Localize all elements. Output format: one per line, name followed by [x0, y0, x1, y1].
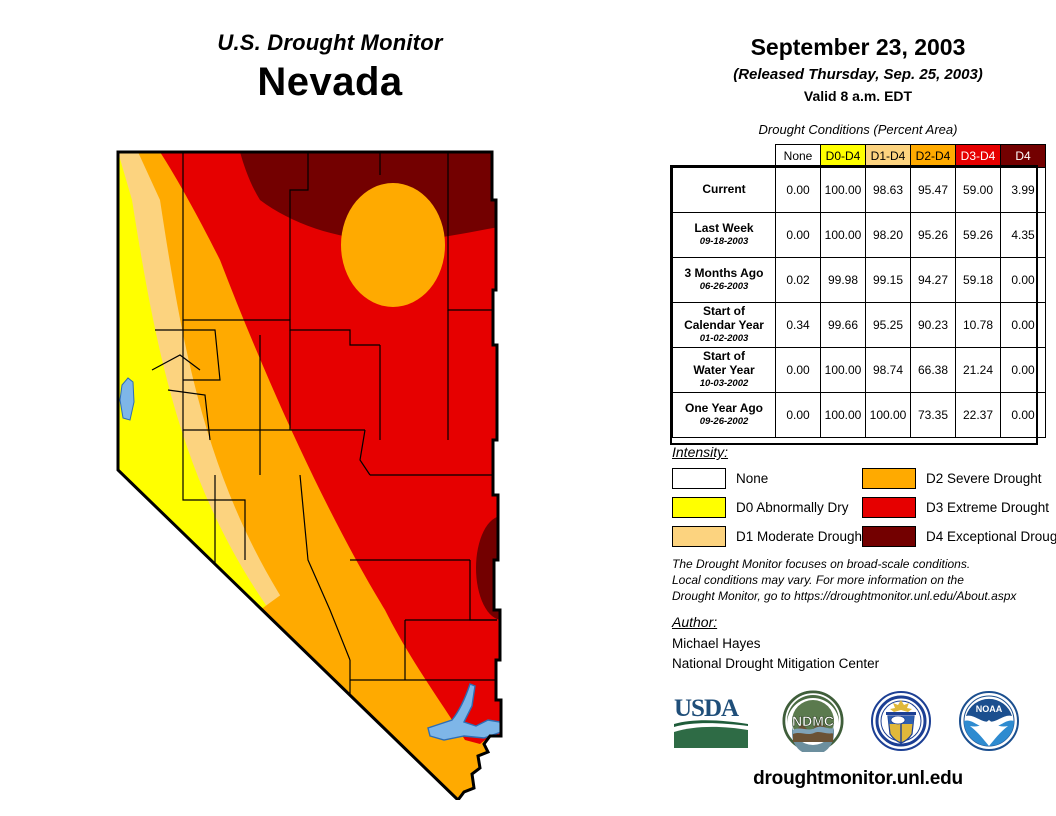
table-header-none: None [776, 145, 821, 168]
table-header-blank [673, 145, 776, 168]
table-row: Start ofWater Year 10-03-2002 0.00 100.0… [673, 348, 1046, 393]
legend-swatch-d0 [672, 497, 726, 518]
lake-tahoe-shape [120, 378, 134, 420]
logo-row: USDA NDMC [672, 690, 1052, 760]
cell-d4: 4.35 [1001, 213, 1046, 258]
row-label-last-week: Last Week 09-18-2003 [673, 213, 776, 258]
svg-text:USDA: USDA [674, 695, 739, 722]
cell-d1d4: 99.15 [866, 258, 911, 303]
cell-none: 0.00 [776, 393, 821, 438]
row-label-date: 10-03-2002 [677, 379, 771, 390]
legend-column-left: None D0 Abnormally Dry D1 Moderate Droug… [672, 466, 866, 553]
table-row: Last Week 09-18-2003 0.00 100.00 98.20 9… [673, 213, 1046, 258]
row-label-date: 06-26-2003 [677, 282, 771, 293]
cell-none: 0.02 [776, 258, 821, 303]
legend-item-d2: D2 Severe Drought [862, 466, 1056, 491]
disclaimer-line-3: Drought Monitor, go to https://droughtmo… [672, 588, 1052, 604]
cell-d2d4: 95.47 [911, 168, 956, 213]
legend-swatch-d1 [672, 526, 726, 547]
row-label-text: 3 Months Ago [685, 266, 764, 280]
cell-d0d4: 99.98 [821, 258, 866, 303]
cell-d3d4: 10.78 [956, 303, 1001, 348]
row-label-date: 09-26-2002 [677, 417, 771, 428]
cell-d3d4: 59.00 [956, 168, 1001, 213]
legend-column-right: D2 Severe Drought D3 Extreme Drought D4 … [862, 466, 1056, 553]
map-title-state: Nevada [0, 60, 660, 105]
cell-d3d4: 59.26 [956, 213, 1001, 258]
cell-d4: 0.00 [1001, 303, 1046, 348]
author-org: National Drought Mitigation Center [672, 656, 879, 671]
legend-item-none: None [672, 466, 866, 491]
cell-d4: 3.99 [1001, 168, 1046, 213]
row-label-one-year-ago: One Year Ago 09-26-2002 [673, 393, 776, 438]
cell-d4: 0.00 [1001, 393, 1046, 438]
table-caption: Drought Conditions (Percent Area) [660, 122, 1056, 137]
row-label-start-of-water-year: Start ofWater Year 10-03-2002 [673, 348, 776, 393]
disclaimer-line-1: The Drought Monitor focuses on broad-sca… [672, 556, 1052, 572]
table-row: Start ofCalendar Year 01-02-2003 0.34 99… [673, 303, 1046, 348]
legend-item-d0: D0 Abnormally Dry [672, 495, 866, 520]
cell-none: 0.00 [776, 213, 821, 258]
row-label-3-months-ago: 3 Months Ago 06-26-2003 [673, 258, 776, 303]
author-heading: Author: [672, 614, 717, 630]
cell-none: 0.00 [776, 168, 821, 213]
website-url: droughtmonitor.unl.edu [660, 768, 1056, 790]
cell-d1d4: 95.25 [866, 303, 911, 348]
cell-d2d4: 73.35 [911, 393, 956, 438]
usdc-seal-logo [868, 690, 934, 757]
legend-swatch-d2 [862, 468, 916, 489]
cell-d4: 0.00 [1001, 258, 1046, 303]
author-name: Michael Hayes [672, 636, 761, 651]
report-released: (Released Thursday, Sep. 25, 2003) [660, 66, 1056, 83]
table-row: Current 0.00 100.00 98.63 95.47 59.00 3.… [673, 168, 1046, 213]
region-d4-southeast [476, 516, 528, 620]
row-label-date: 09-18-2003 [677, 237, 771, 248]
report-valid-time: Valid 8 a.m. EDT [660, 88, 1056, 104]
cell-d1d4: 100.00 [866, 393, 911, 438]
cell-d3d4: 22.37 [956, 393, 1001, 438]
cell-d0d4: 99.66 [821, 303, 866, 348]
cell-d1d4: 98.63 [866, 168, 911, 213]
cell-d4: 0.00 [1001, 348, 1046, 393]
map-title-program: U.S. Drought Monitor [0, 30, 660, 56]
svg-text:NDMC: NDMC [792, 713, 834, 729]
disclaimer: The Drought Monitor focuses on broad-sca… [672, 556, 1052, 604]
table-row: 3 Months Ago 06-26-2003 0.02 99.98 99.15… [673, 258, 1046, 303]
legend-label-d1: D1 Moderate Drought [736, 529, 866, 544]
nevada-drought-map [60, 140, 620, 800]
cell-d0d4: 100.00 [821, 348, 866, 393]
cell-none: 0.00 [776, 348, 821, 393]
cell-d1d4: 98.74 [866, 348, 911, 393]
region-d2-northeast-blob [341, 183, 445, 307]
row-label-text: Last Week [694, 221, 753, 235]
drought-conditions-table: None D0-D4 D1-D4 D2-D4 D3-D4 D4 Current … [672, 144, 1046, 438]
legend-swatch-none [672, 468, 726, 489]
row-label-current: Current [673, 168, 776, 213]
ndmc-logo: NDMC [780, 690, 846, 757]
legend-item-d3: D3 Extreme Drought [862, 495, 1056, 520]
table-header-d0-d4: D0-D4 [821, 145, 866, 168]
drought-monitor-page: U.S. Drought Monitor Nevada [0, 0, 1056, 816]
row-label-start-of-calendar-year: Start ofCalendar Year 01-02-2003 [673, 303, 776, 348]
row-label-text: Start ofWater Year [693, 349, 754, 377]
disclaimer-line-2: Local conditions may vary. For more info… [672, 572, 1052, 588]
legend-item-d4: D4 Exceptional Drought [862, 524, 1056, 549]
cell-d2d4: 94.27 [911, 258, 956, 303]
noaa-logo: NOAA [956, 690, 1022, 757]
legend-swatch-d4 [862, 526, 916, 547]
table-row: One Year Ago 09-26-2002 0.00 100.00 100.… [673, 393, 1046, 438]
cell-d1d4: 98.20 [866, 213, 911, 258]
cell-d3d4: 59.18 [956, 258, 1001, 303]
cell-d2d4: 66.38 [911, 348, 956, 393]
row-label-text: Start ofCalendar Year [684, 304, 764, 332]
cell-none: 0.34 [776, 303, 821, 348]
legend-label-none: None [736, 471, 768, 486]
table-body: Current 0.00 100.00 98.63 95.47 59.00 3.… [673, 168, 1046, 438]
table-header-d3-d4: D3-D4 [956, 145, 1001, 168]
cell-d2d4: 95.26 [911, 213, 956, 258]
report-date: September 23, 2003 [660, 34, 1056, 61]
svg-text:NOAA: NOAA [976, 704, 1003, 714]
legend-swatch-d3 [862, 497, 916, 518]
table-header-d1-d4: D1-D4 [866, 145, 911, 168]
cell-d3d4: 21.24 [956, 348, 1001, 393]
legend-label-d0: D0 Abnormally Dry [736, 500, 849, 515]
table-header-d4: D4 [1001, 145, 1046, 168]
cell-d2d4: 90.23 [911, 303, 956, 348]
cell-d0d4: 100.00 [821, 393, 866, 438]
row-label-date: 01-02-2003 [677, 334, 771, 345]
table-header-d2-d4: D2-D4 [911, 145, 956, 168]
usda-logo: USDA [672, 690, 752, 757]
legend-label-d3: D3 Extreme Drought [926, 500, 1049, 515]
legend-item-d1: D1 Moderate Drought [672, 524, 866, 549]
cell-d0d4: 100.00 [821, 213, 866, 258]
legend-label-d4: D4 Exceptional Drought [926, 529, 1056, 544]
legend-label-d2: D2 Severe Drought [926, 471, 1042, 486]
cell-d0d4: 100.00 [821, 168, 866, 213]
row-label-text: One Year Ago [685, 401, 763, 415]
table-header-row: None D0-D4 D1-D4 D2-D4 D3-D4 D4 [673, 145, 1046, 168]
row-label-text: Current [702, 182, 745, 196]
intensity-heading: Intensity: [672, 444, 728, 460]
drought-fill-layers [60, 140, 620, 800]
